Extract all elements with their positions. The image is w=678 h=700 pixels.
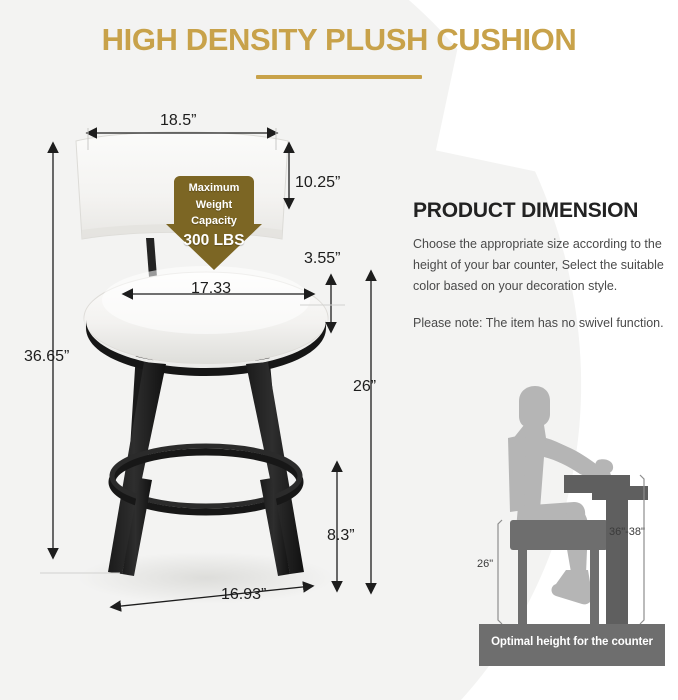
dimension-label-total-height: 36.65” — [24, 348, 69, 366]
infographic-page: HIGH DENSITY PLUSH CUSHION — [0, 0, 678, 700]
dimension-label-seat-height: 26” — [353, 378, 376, 396]
dimension-label-leg-span: 16.93” — [221, 586, 266, 604]
dimension-label-seat-thickness: 3.55” — [304, 250, 340, 268]
scene-caption-bar: Optimal height for the counter — [479, 624, 665, 660]
product-dimension-heading: PRODUCT DIMENSION — [413, 199, 638, 223]
dimension-label-backrest-height: 10.25” — [295, 174, 340, 192]
scene-label-counter-height: 36"-38" — [609, 526, 645, 538]
dimension-label-seat-width: 17.33 — [191, 280, 231, 298]
dimension-label-backrest-width: 18.5” — [160, 112, 196, 130]
weight-capacity-badge: Maximum Weight Capacity 300 LBS — [162, 172, 266, 272]
scene-caption-text: Optimal height for the counter — [491, 636, 653, 648]
scene-label-stool-height: 26" — [477, 558, 493, 570]
dimension-label-footrest-height: 8.3” — [327, 527, 355, 545]
product-dimension-body: Choose the appropriate size according to… — [413, 234, 675, 297]
product-dimension-note: Please note: The item has no swivel func… — [413, 313, 678, 333]
